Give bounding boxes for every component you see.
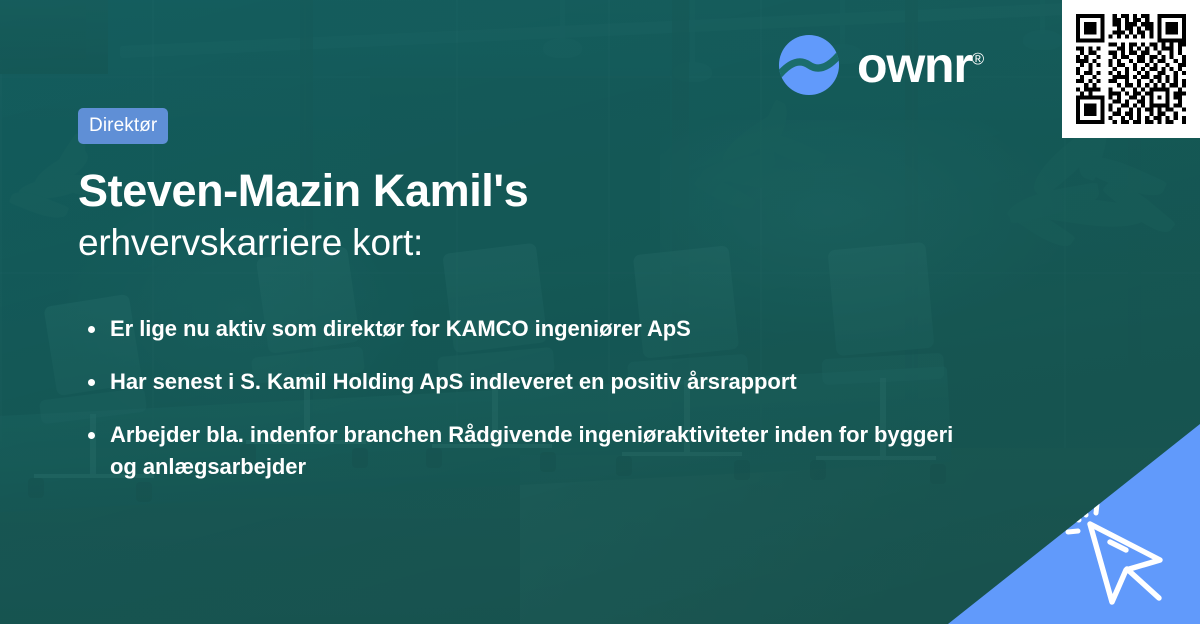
qr-code[interactable] xyxy=(1062,0,1200,138)
list-item: Har senest i S. Kamil Holding ApS indlev… xyxy=(84,366,984,397)
brand-wordmark: ownr® xyxy=(857,40,984,90)
list-item: Er lige nu aktiv som direktør for KAMCO … xyxy=(84,313,984,344)
brand-logo: ownr® xyxy=(778,34,984,96)
role-badge: Direktør xyxy=(78,108,168,144)
brand-name: ownr xyxy=(857,37,972,93)
career-highlights-list: Er lige nu aktiv som direktør for KAMCO … xyxy=(84,313,984,504)
qr-code-icon xyxy=(1072,10,1190,128)
photo-color-overlay xyxy=(0,0,1200,624)
registered-trademark-icon: ® xyxy=(972,49,985,68)
ownr-swirl-logo-icon xyxy=(778,34,840,96)
page-subtitle: erhvervskarriere kort: xyxy=(78,222,958,265)
business-card: ownr® xyxy=(0,0,1200,624)
list-item: Arbejder bla. indenfor branchen Rådgiven… xyxy=(84,419,984,481)
headline-block: Direktør Steven-Mazin Kamil's erhvervska… xyxy=(78,108,958,265)
office-background-photo xyxy=(0,0,1200,624)
page-title: Steven-Mazin Kamil's xyxy=(78,166,958,216)
